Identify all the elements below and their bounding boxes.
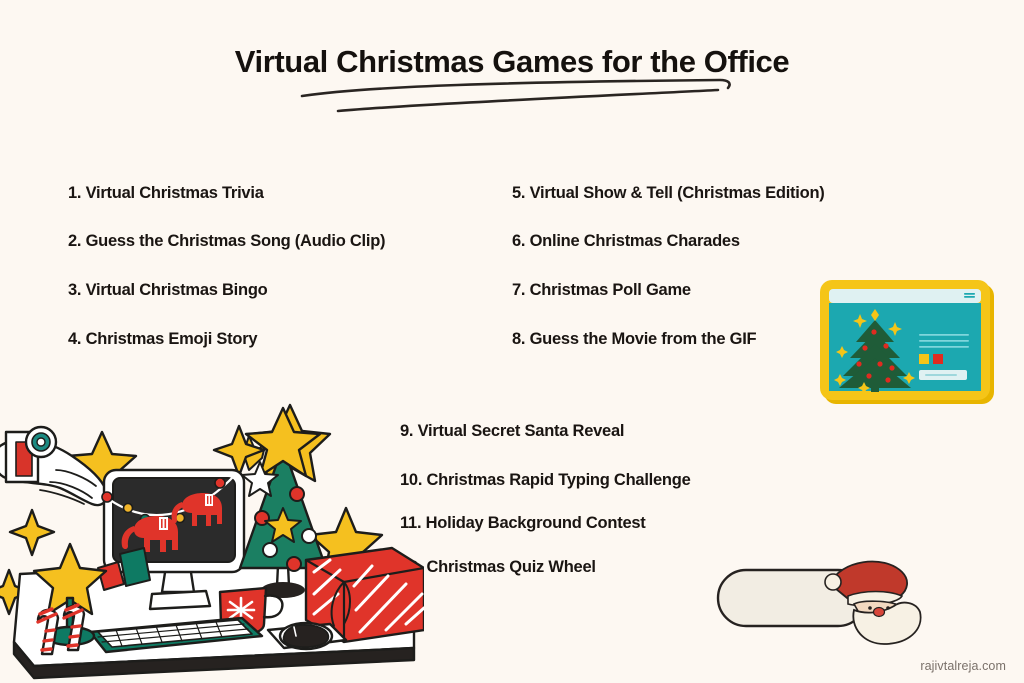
list-item: 6. Online Christmas Charades <box>512 232 740 251</box>
santa-eye-right <box>886 606 890 610</box>
list-item: 7. Christmas Poll Game <box>512 281 691 300</box>
color-swatch-yellow <box>919 354 929 364</box>
poster-canvas: Virtual Christmas Games for the Office 1… <box>0 0 1024 683</box>
desk-scene-illustration <box>0 398 424 683</box>
list-item: 2. Guess the Christmas Song (Audio Clip) <box>68 232 385 251</box>
title-block: Virtual Christmas Games for the Office <box>0 44 1024 80</box>
color-swatch-red <box>933 354 943 364</box>
list-item: 5. Virtual Show & Tell (Christmas Editio… <box>512 184 825 203</box>
list-item: 10. Christmas Rapid Typing Challenge <box>400 471 691 490</box>
list-item: 11. Holiday Background Contest <box>400 514 646 533</box>
list-item: 3. Virtual Christmas Bingo <box>68 281 268 300</box>
santa-nose <box>874 608 885 617</box>
watermark-url: rajivtalreja.com <box>920 659 1006 673</box>
list-item: 1. Virtual Christmas Trivia <box>68 184 264 203</box>
santa-banner-illustration <box>712 556 940 648</box>
list-item: 12. Christmas Quiz Wheel <box>400 558 596 577</box>
list-item: 9. Virtual Secret Santa Reveal <box>400 422 624 441</box>
list-item: 4. Christmas Emoji Story <box>68 330 257 349</box>
list-item: 8. Guess the Movie from the GIF <box>512 330 756 349</box>
browser-window-illustration <box>812 276 1002 412</box>
page-title: Virtual Christmas Games for the Office <box>0 44 1024 80</box>
title-underline-swoosh <box>300 78 740 118</box>
santa-eye-left <box>868 606 872 610</box>
